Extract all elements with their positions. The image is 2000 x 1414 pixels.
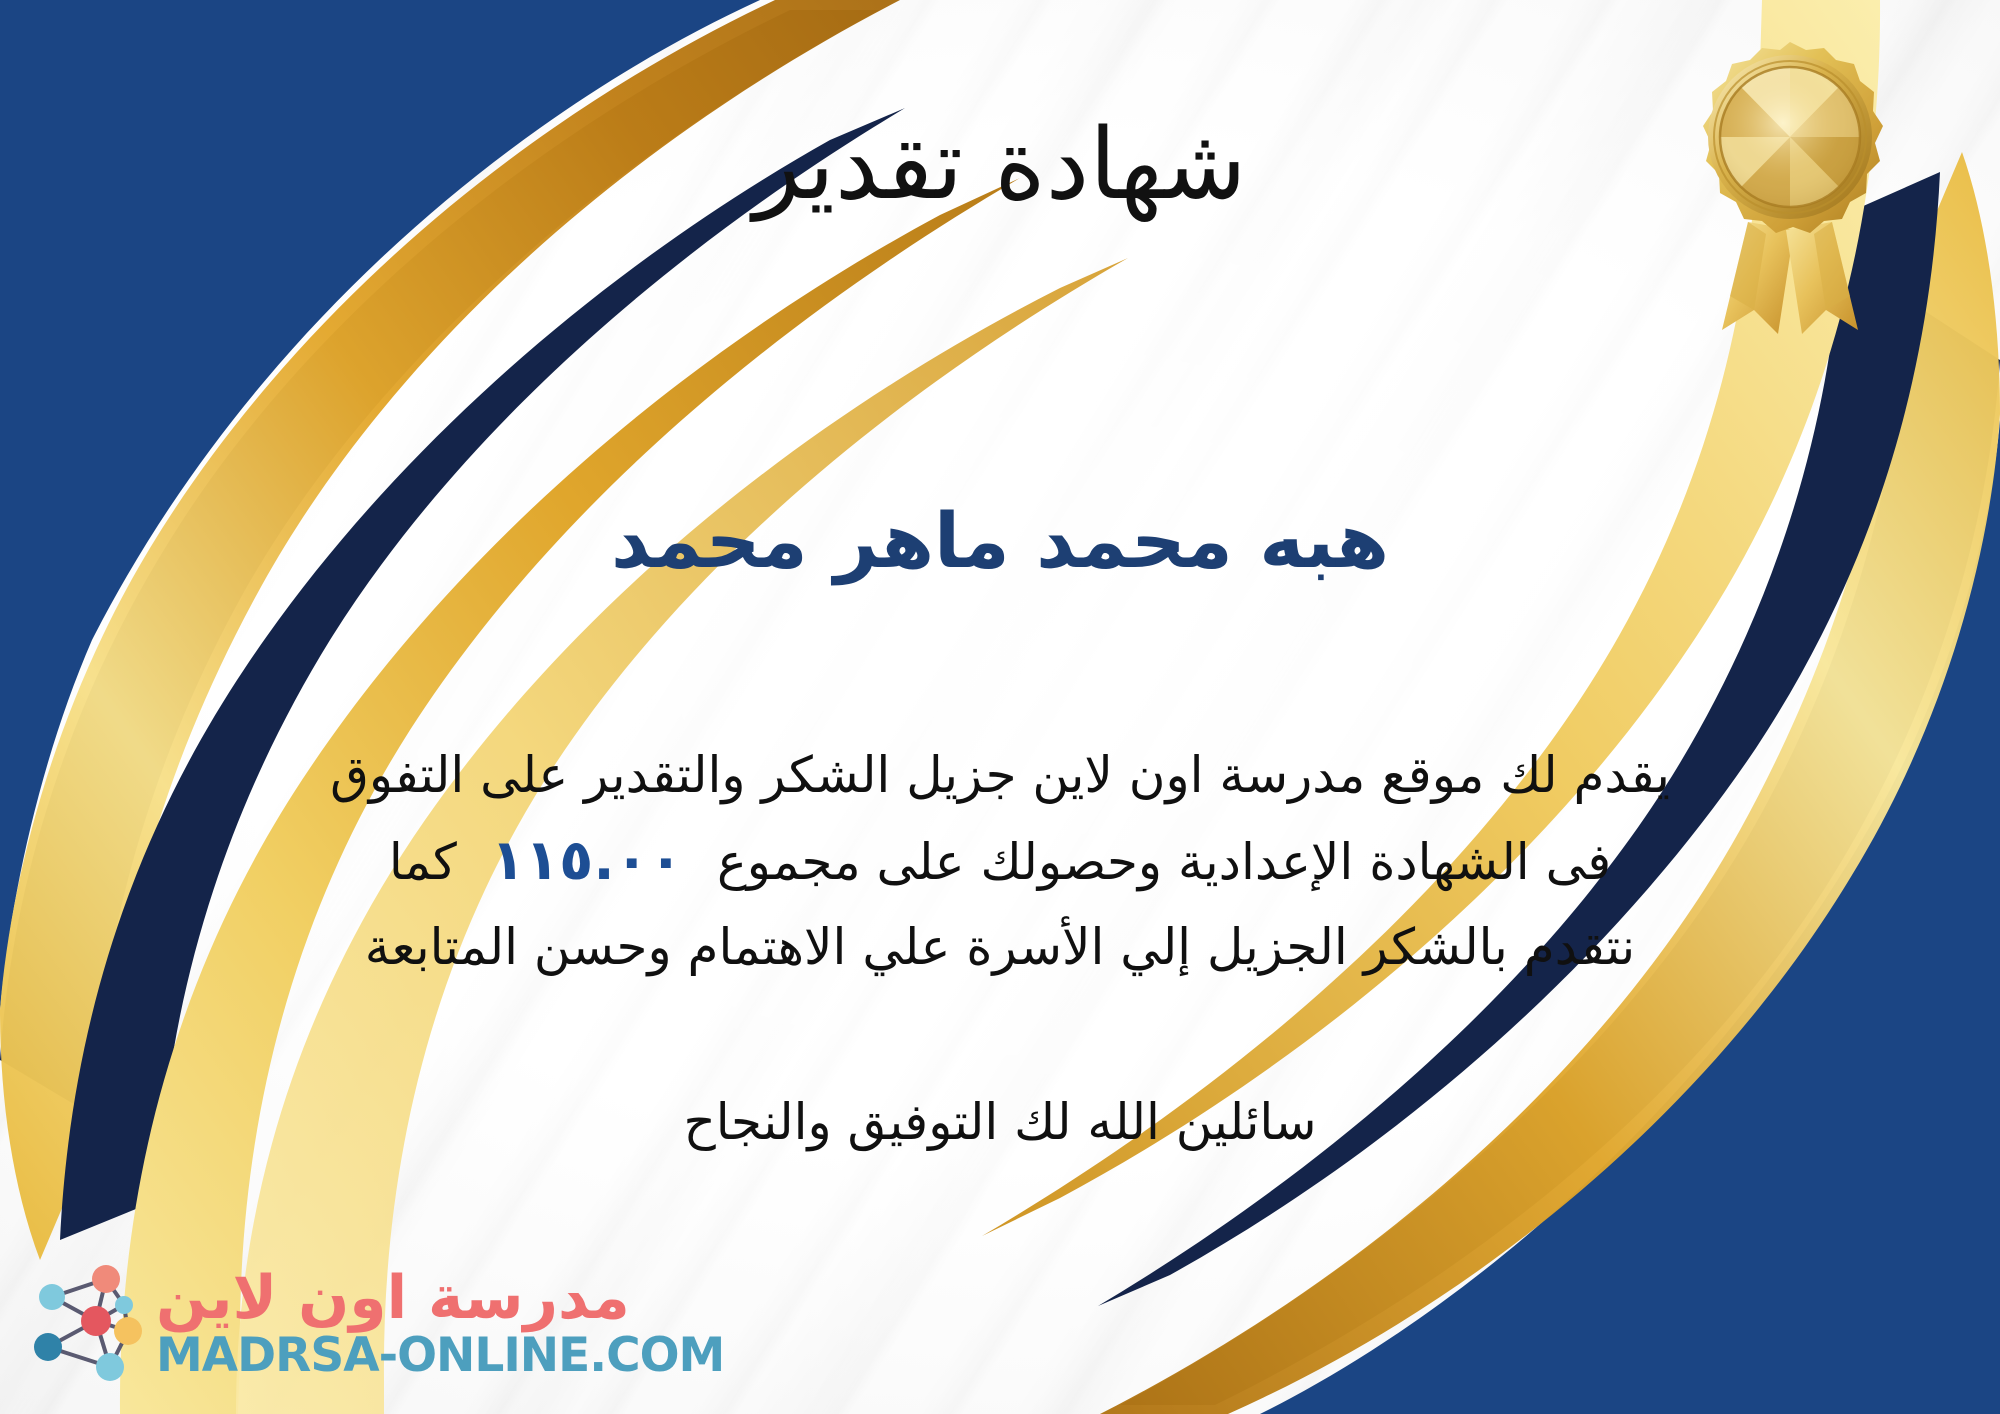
body-line-3: نتقدم بالشكر الجزيل إلي الأسرة علي الاهت… [60,907,1940,988]
page-title: شهادة تقدير [0,112,2000,220]
node-lightblue [39,1284,65,1310]
logo-text-block: مدرسة اون لاين MADRSA-ONLINE.COM [156,1268,724,1379]
node-salmon [92,1265,120,1293]
logo-website: MADRSA-ONLINE.COM [156,1332,724,1379]
node-yellow [114,1317,142,1345]
recipient-name: هبه محمد ماهر محمد [0,495,2000,586]
certificate-page: شهادة تقدير هبه محمد ماهر محمد يقدم لك م… [0,0,2000,1414]
node-darkblue [34,1333,62,1361]
body-line-2-left-text: كما [389,822,457,903]
body-line-1: يقدم لك موقع مدرسة اون لاين جزيل الشكر و… [60,735,1940,816]
network-nodes-icon [24,1259,146,1387]
closing-line: سائلين الله لك التوفيق والنجاح [0,1085,2000,1160]
score-value: ١١٥.٠٠ [457,816,717,907]
body-line-2: فى الشهادة الإعدادية وحصولك على مجموع ١١… [60,816,1940,907]
node-lightblue-3 [96,1353,124,1381]
certificate-body: يقدم لك موقع مدرسة اون لاين جزيل الشكر و… [60,735,1940,988]
node-red [81,1306,111,1336]
certificate-content: شهادة تقدير هبه محمد ماهر محمد يقدم لك م… [0,0,2000,1414]
logo-arabic-name: مدرسة اون لاين [156,1268,630,1328]
brand-logo[interactable]: مدرسة اون لاين MADRSA-ONLINE.COM [24,1248,544,1398]
node-lightblue-2 [115,1296,133,1314]
body-line-2-right-text: فى الشهادة الإعدادية وحصولك على مجموع [717,822,1611,903]
